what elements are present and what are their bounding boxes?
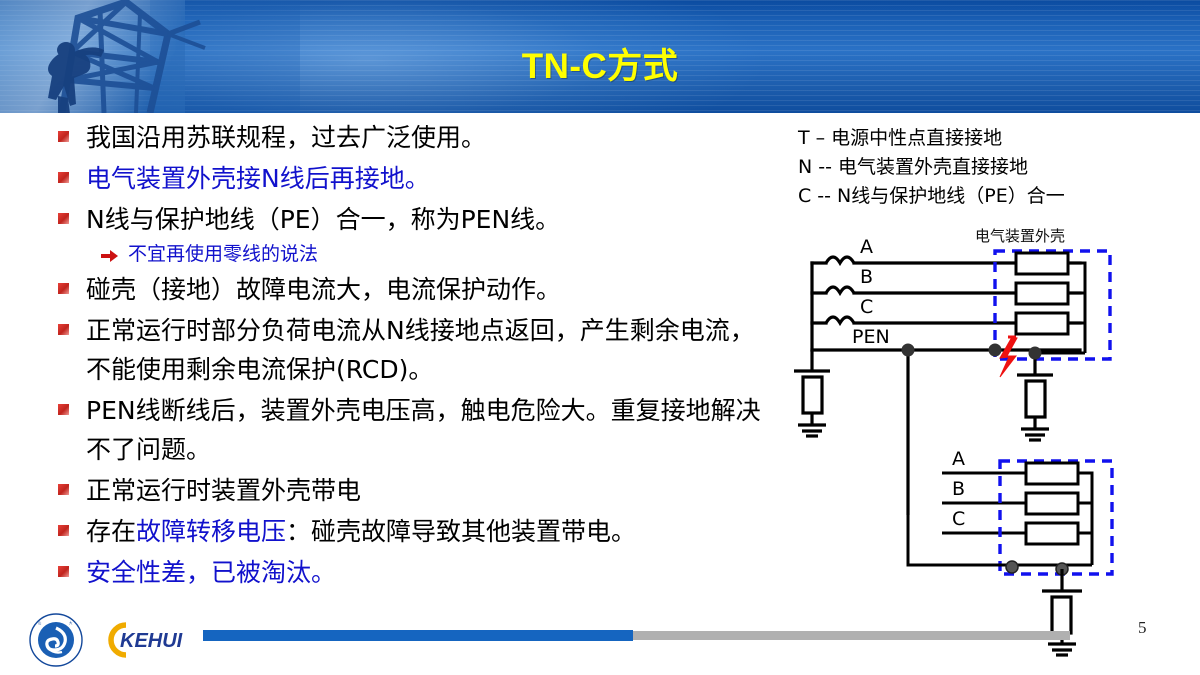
junction-dot <box>902 344 914 356</box>
kehui-wordmark: KEHUI <box>120 630 183 652</box>
source-earth-electrode <box>794 350 830 436</box>
red-square-bullet-icon <box>58 172 69 183</box>
bullet-text: N线与保护地线（PE）合一，称为PEN线。 <box>86 200 560 239</box>
kehui-company-logo: KEHUI <box>96 618 206 662</box>
circuit-svg: A B C PEN <box>790 225 1190 640</box>
tnc-legend: T – 电源中性点直接接地 N -- 电气装置外壳直接接地 C -- N线与保护… <box>798 124 1198 211</box>
page-title: TN-C方式 <box>0 38 1200 89</box>
red-square-bullet-icon <box>58 131 69 142</box>
phase-label-a-top: A <box>860 236 873 258</box>
list-item: 碰壳（接地）故障电流大，电流保护动作。 <box>58 270 778 309</box>
red-arrow-bullet-icon <box>101 248 119 266</box>
bullet-text-prefix: 存在 <box>86 517 136 546</box>
phase-label-a-bottom: A <box>952 448 965 470</box>
tnc-circuit-diagram: 电气装置外壳 A B C PEN <box>790 225 1190 640</box>
bullet-text: 正常运行时部分负荷电流从N线接地点返回，产生剩余电流，不能使用剩余电流保护(RC… <box>86 311 778 389</box>
footer-progress-bar-blue <box>203 630 633 641</box>
list-item: 安全性差，已被淘汰。 <box>58 553 778 592</box>
red-square-bullet-icon <box>58 404 69 415</box>
bullet-keyword: 故障转移电压 <box>136 517 286 546</box>
junction-dot <box>1006 561 1018 573</box>
sub-list-item: 不宜再使用零线的说法 <box>101 241 778 267</box>
red-lightning-fault-icon <box>1000 337 1017 377</box>
list-item: 正常运行时装置外壳带电 <box>58 471 778 510</box>
shandong-university-of-technology-seal-logo: 山大 <box>28 612 84 668</box>
junction-dot <box>989 344 1001 356</box>
phase-label-c-top: C <box>860 296 873 318</box>
legend-line-n: N -- 电气装置外壳直接接地 <box>798 153 1198 182</box>
load-resistors-top <box>1016 253 1068 334</box>
bullet-text: 电气装置外壳接N线后再接地。 <box>86 159 430 198</box>
phase-label-b-top: B <box>860 266 873 288</box>
neutral-label-pen: PEN <box>852 326 890 348</box>
sub-bullet-text: 不宜再使用零线的说法 <box>128 241 318 267</box>
page-number: 5 <box>1138 618 1147 638</box>
red-square-bullet-icon <box>58 484 69 495</box>
enclosure-label: 电气装置外壳 <box>975 225 1065 246</box>
source-winding-icons <box>826 257 854 323</box>
bullet-text: PEN线断线后，装置外壳电压高，触电危险大。重复接地解决不了问题。 <box>86 391 778 469</box>
list-item: 我国沿用苏联规程，过去广泛使用。 <box>58 118 778 157</box>
list-item: 正常运行时部分负荷电流从N线接地点返回，产生剩余电流，不能使用剩余电流保护(RC… <box>58 311 778 389</box>
red-square-bullet-icon <box>58 213 69 224</box>
list-item: N线与保护地线（PE）合一，称为PEN线。 <box>58 200 778 239</box>
bullet-list: 我国沿用苏联规程，过去广泛使用。 电气装置外壳接N线后再接地。 N线与保护地线（… <box>58 118 778 594</box>
red-square-bullet-icon <box>58 283 69 294</box>
phase-label-b-bottom: B <box>952 478 965 500</box>
junction-dot <box>1029 347 1041 359</box>
legend-line-t: T – 电源中性点直接接地 <box>798 124 1198 153</box>
device-earth-electrode-bottom <box>1042 569 1082 633</box>
red-square-bullet-icon <box>58 566 69 577</box>
bullet-text-mixed: 存在故障转移电压：碰壳故障导致其他装置带电。 <box>86 512 636 551</box>
slide-header: TN-C方式 <box>0 0 1200 113</box>
bullet-text: 碰壳（接地）故障电流大，电流保护动作。 <box>86 270 561 309</box>
red-square-bullet-icon <box>58 525 69 536</box>
phase-label-c-bottom: C <box>952 508 965 530</box>
footer-progress-bar-gray <box>633 631 1070 640</box>
list-item: 存在故障转移电压：碰壳故障导致其他装置带电。 <box>58 512 778 551</box>
legend-line-c: C -- N线与保护地线（PE）合一 <box>798 182 1198 211</box>
device-earth-electrode-top <box>1017 353 1053 440</box>
bullet-text: 我国沿用苏联规程，过去广泛使用。 <box>86 118 486 157</box>
load-resistors-bottom <box>1026 463 1078 544</box>
list-item: PEN线断线后，装置外壳电压高，触电危险大。重复接地解决不了问题。 <box>58 391 778 469</box>
red-square-bullet-icon <box>58 324 69 335</box>
bullet-text: 安全性差，已被淘汰。 <box>86 553 336 592</box>
bullet-text-suffix: ：碰壳故障导致其他装置带电。 <box>286 517 636 546</box>
bullet-text: 正常运行时装置外壳带电 <box>86 471 361 510</box>
list-item: 电气装置外壳接N线后再接地。 <box>58 159 778 198</box>
